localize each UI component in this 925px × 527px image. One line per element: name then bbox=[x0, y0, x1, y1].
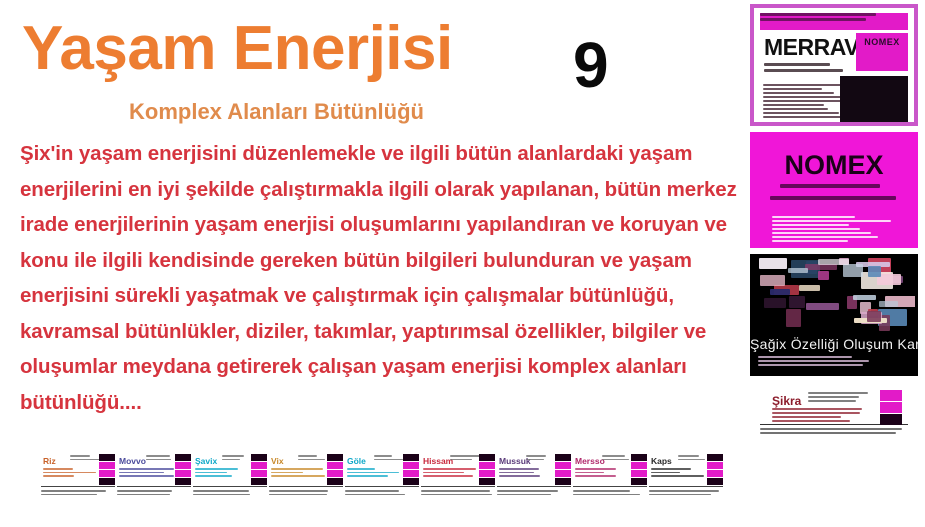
merrav-banner bbox=[760, 13, 908, 30]
collage-chip bbox=[764, 298, 786, 309]
micro-text-line bbox=[763, 104, 824, 106]
swatch bbox=[175, 478, 191, 485]
thumbnail-swatch-column bbox=[707, 454, 723, 486]
thumbnail-head-lines bbox=[222, 455, 252, 462]
page-subtitle: Komplex Alanları Bütünlüğü bbox=[129, 99, 424, 125]
thumbnail-card[interactable]: Mussuk bbox=[496, 452, 572, 504]
micro-text-line bbox=[345, 490, 399, 492]
thumbnail-divider bbox=[649, 486, 723, 487]
thumbnail-body-lines bbox=[651, 468, 707, 479]
swatch bbox=[403, 462, 419, 469]
sikra-head-lines bbox=[808, 392, 868, 404]
merrav-nomex-label: NOMEX bbox=[856, 37, 908, 47]
thumbnail-foot-lines bbox=[573, 490, 647, 497]
swatch bbox=[555, 462, 571, 469]
micro-text-line bbox=[772, 232, 871, 234]
swatch bbox=[555, 454, 571, 461]
swatch bbox=[175, 462, 191, 469]
thumbnail-swatch-column bbox=[555, 454, 571, 486]
thumbnail-strip: RizMovvoŞavixVixGöleHissamMussukMerssoKa… bbox=[40, 452, 720, 506]
nomex-title: NOMEX bbox=[750, 150, 918, 181]
micro-text-line bbox=[347, 468, 375, 470]
micro-text-line bbox=[374, 455, 392, 457]
micro-text-line bbox=[651, 472, 680, 474]
micro-text-line bbox=[526, 459, 544, 461]
micro-text-line bbox=[119, 468, 174, 470]
micro-text-line bbox=[450, 459, 472, 461]
micro-text-line bbox=[450, 455, 480, 457]
micro-text-line bbox=[649, 490, 719, 492]
thumbnail-title: Mersso bbox=[575, 456, 605, 466]
micro-text-line bbox=[193, 494, 250, 496]
swatch bbox=[99, 462, 115, 469]
micro-text-line bbox=[772, 216, 855, 218]
thumbnail-title: Vix bbox=[271, 456, 284, 466]
collage-chip bbox=[789, 296, 804, 308]
micro-text-line bbox=[763, 116, 842, 118]
thumbnail-card[interactable]: Göle bbox=[344, 452, 420, 504]
micro-text-line bbox=[271, 475, 325, 477]
thumbnail-divider bbox=[269, 486, 343, 487]
nomex-card[interactable]: NOMEX bbox=[750, 132, 918, 248]
collage-chip bbox=[818, 271, 830, 280]
thumbnail-divider bbox=[345, 486, 419, 487]
micro-text-line bbox=[575, 468, 616, 470]
collage-chip bbox=[760, 275, 785, 286]
micro-text-line bbox=[760, 432, 896, 434]
swatch bbox=[327, 470, 343, 477]
micro-text-line bbox=[117, 494, 170, 496]
thumbnail-title: Göle bbox=[347, 456, 366, 466]
micro-text-line bbox=[423, 472, 464, 474]
swatch bbox=[479, 470, 495, 477]
sikra-foot-lines bbox=[760, 428, 908, 436]
micro-text-line bbox=[808, 400, 856, 402]
micro-text-line bbox=[770, 196, 896, 200]
thumbnail-swatch-column bbox=[403, 454, 419, 486]
collage-card[interactable]: Şağix Özelliği Oluşum Kartı bbox=[750, 254, 918, 376]
merrav-photo-thumb bbox=[840, 76, 908, 124]
micro-text-line bbox=[772, 420, 850, 422]
sikra-body-lines bbox=[772, 408, 868, 424]
swatch bbox=[555, 478, 571, 485]
swatch bbox=[251, 478, 267, 485]
page-title: Yaşam Enerjisi bbox=[22, 18, 453, 80]
collage-chip bbox=[879, 301, 899, 307]
collage-chip bbox=[759, 258, 787, 269]
thumbnail-card[interactable]: Hissam bbox=[420, 452, 496, 504]
thumbnail-body-lines bbox=[499, 468, 555, 479]
swatch bbox=[403, 470, 419, 477]
thumbnail-head-lines bbox=[298, 455, 328, 462]
thumbnail-body-lines bbox=[43, 468, 99, 479]
thumbnail-title: Hissam bbox=[423, 456, 453, 466]
micro-text-line bbox=[758, 356, 852, 358]
micro-text-line bbox=[298, 459, 325, 461]
micro-text-line bbox=[70, 459, 100, 461]
micro-text-line bbox=[602, 455, 625, 457]
micro-text-line bbox=[271, 472, 303, 474]
thumbnail-swatch-column bbox=[175, 454, 191, 486]
micro-text-line bbox=[575, 472, 604, 474]
micro-text-line bbox=[651, 468, 691, 470]
micro-text-line bbox=[772, 412, 860, 414]
micro-text-line bbox=[763, 96, 842, 98]
thumbnail-head-lines bbox=[146, 455, 176, 462]
thumbnail-body-lines bbox=[119, 468, 175, 479]
thumbnail-title: Şavix bbox=[195, 456, 217, 466]
nomex-body-lines bbox=[772, 216, 900, 244]
thumbnail-body-lines bbox=[423, 468, 479, 479]
micro-text-line bbox=[421, 490, 490, 492]
thumbnail-foot-lines bbox=[193, 490, 267, 497]
swatch bbox=[631, 462, 647, 469]
merrav-nomex-inset: NOMEX bbox=[856, 33, 908, 71]
micro-text-line bbox=[347, 475, 388, 477]
thumbnail-foot-lines bbox=[421, 490, 495, 497]
slide-canvas: Yaşam Enerjisi 9 Komplex Alanları Bütünl… bbox=[0, 0, 925, 527]
micro-text-line bbox=[195, 475, 232, 477]
swatch bbox=[479, 478, 495, 485]
thumbnail-body-lines bbox=[347, 468, 403, 479]
swatch bbox=[327, 454, 343, 461]
body-paragraph: Şix'in yaşam enerjisini düzenlemekle ve … bbox=[20, 136, 750, 420]
micro-text-line bbox=[374, 459, 403, 461]
swatch bbox=[880, 402, 902, 413]
thumbnail-card[interactable]: Mersso bbox=[572, 452, 648, 504]
swatch bbox=[707, 478, 723, 485]
micro-text-line bbox=[195, 472, 227, 474]
collage-chip bbox=[805, 264, 837, 270]
micro-text-line bbox=[760, 428, 902, 430]
thumbnail-card[interactable]: Şavix bbox=[192, 452, 268, 504]
thumbnail-swatch-column bbox=[99, 454, 115, 486]
swatch bbox=[555, 470, 571, 477]
micro-text-line bbox=[497, 490, 558, 492]
micro-text-line bbox=[43, 475, 74, 477]
thumbnail-divider bbox=[573, 486, 647, 487]
micro-text-line bbox=[808, 396, 859, 398]
micro-text-line bbox=[763, 88, 822, 90]
collage-chip-area bbox=[753, 257, 915, 333]
swatch bbox=[479, 454, 495, 461]
thumbnail-divider bbox=[41, 486, 115, 487]
micro-text-line bbox=[41, 494, 97, 496]
swatch bbox=[880, 414, 902, 425]
micro-text-line bbox=[41, 490, 106, 492]
collage-chip bbox=[867, 311, 882, 322]
thumbnail-head-lines bbox=[450, 455, 480, 462]
swatch bbox=[707, 462, 723, 469]
micro-text-line bbox=[772, 224, 849, 226]
micro-text-line bbox=[678, 459, 705, 461]
micro-text-line bbox=[808, 392, 868, 394]
thumbnail-foot-lines bbox=[269, 490, 343, 497]
thumbnail-swatch-column bbox=[327, 454, 343, 486]
swatch bbox=[631, 470, 647, 477]
micro-text-line bbox=[423, 475, 473, 477]
micro-text-line bbox=[423, 468, 476, 470]
thumbnail-head-lines bbox=[70, 455, 100, 462]
collage-body-lines bbox=[758, 356, 910, 368]
collage-chip bbox=[843, 264, 863, 277]
micro-text-line bbox=[119, 475, 174, 477]
micro-text-line bbox=[772, 228, 860, 230]
sikra-card[interactable]: Şikra bbox=[750, 382, 918, 442]
thumbnail-card[interactable]: Kaps bbox=[648, 452, 724, 504]
micro-text-line bbox=[763, 112, 839, 114]
micro-text-line bbox=[222, 459, 240, 461]
swatch bbox=[327, 462, 343, 469]
thumbnail-head-lines bbox=[526, 455, 556, 462]
thumbnail-foot-lines bbox=[117, 490, 191, 497]
micro-text-line bbox=[499, 475, 540, 477]
micro-text-line bbox=[421, 494, 492, 496]
micro-text-line bbox=[760, 18, 866, 21]
micro-text-line bbox=[499, 472, 534, 474]
collage-title: Şağix Özelliği Oluşum Kartı bbox=[750, 336, 918, 352]
swatch bbox=[99, 470, 115, 477]
thumbnail-swatch-column bbox=[631, 454, 647, 486]
micro-text-line bbox=[760, 13, 876, 16]
thumbnail-divider bbox=[497, 486, 571, 487]
micro-text-line bbox=[573, 490, 630, 492]
micro-text-line bbox=[117, 490, 172, 492]
micro-text-line bbox=[499, 468, 539, 470]
thumbnail-title: Kaps bbox=[651, 456, 672, 466]
swatch bbox=[631, 478, 647, 485]
nomex-subtitle-line-2 bbox=[770, 196, 898, 202]
micro-text-line bbox=[649, 494, 711, 496]
thumbnail-foot-lines bbox=[497, 490, 571, 497]
micro-text-line bbox=[193, 490, 249, 492]
collage-chip bbox=[818, 259, 849, 265]
micro-text-line bbox=[763, 92, 834, 94]
micro-text-line bbox=[763, 108, 828, 110]
micro-text-line bbox=[43, 468, 73, 470]
swatch bbox=[251, 470, 267, 477]
thumbnail-card[interactable]: Riz bbox=[40, 452, 116, 504]
micro-text-line bbox=[345, 494, 405, 496]
thumbnail-card[interactable]: Vix bbox=[268, 452, 344, 504]
swatch bbox=[327, 478, 343, 485]
micro-text-line bbox=[70, 455, 90, 457]
thumbnail-foot-lines bbox=[345, 490, 419, 497]
merrav-card[interactable]: MERRAV NOMEX bbox=[750, 4, 918, 126]
micro-text-line bbox=[575, 475, 616, 477]
micro-text-line bbox=[222, 455, 244, 457]
swatch bbox=[880, 390, 902, 401]
thumbnail-divider bbox=[421, 486, 495, 487]
micro-text-line bbox=[764, 69, 843, 72]
thumbnail-title: Movvo bbox=[119, 456, 146, 466]
thumbnail-divider bbox=[117, 486, 191, 487]
micro-text-line bbox=[758, 364, 863, 366]
micro-text-line bbox=[763, 100, 842, 102]
collage-chip bbox=[806, 303, 839, 310]
micro-text-line bbox=[678, 455, 699, 457]
micro-text-line bbox=[146, 459, 171, 461]
thumbnail-card[interactable]: Movvo bbox=[116, 452, 192, 504]
swatch bbox=[251, 454, 267, 461]
collage-chip bbox=[770, 289, 790, 296]
thumbnail-swatch-column bbox=[479, 454, 495, 486]
thumbnail-divider bbox=[193, 486, 267, 487]
micro-text-line bbox=[195, 468, 238, 470]
thumbnail-head-lines bbox=[678, 455, 708, 462]
micro-text-line bbox=[146, 455, 170, 457]
micro-text-line bbox=[119, 472, 164, 474]
micro-text-line bbox=[651, 475, 704, 477]
nomex-subtitle-line-1 bbox=[780, 184, 888, 190]
swatch bbox=[99, 478, 115, 485]
swatch bbox=[403, 478, 419, 485]
thumbnail-foot-lines bbox=[41, 490, 115, 497]
micro-text-line bbox=[772, 236, 878, 238]
swatch bbox=[175, 454, 191, 461]
micro-text-line bbox=[43, 472, 96, 474]
micro-text-line bbox=[780, 184, 880, 188]
thumbnail-title: Riz bbox=[43, 456, 56, 466]
micro-text-line bbox=[269, 490, 328, 492]
swatch bbox=[631, 454, 647, 461]
thumbnail-body-lines bbox=[271, 468, 327, 479]
micro-text-line bbox=[269, 494, 327, 496]
swatch bbox=[175, 470, 191, 477]
collage-chip bbox=[788, 268, 808, 274]
micro-text-line bbox=[526, 455, 546, 457]
micro-text-line bbox=[772, 240, 848, 242]
micro-text-line bbox=[298, 455, 317, 457]
micro-text-line bbox=[772, 416, 841, 418]
swatch bbox=[707, 454, 723, 461]
swatch bbox=[99, 454, 115, 461]
merrav-title: MERRAV bbox=[764, 34, 859, 61]
micro-text-line bbox=[573, 494, 640, 496]
collage-chip bbox=[853, 295, 876, 300]
sikra-title: Şikra bbox=[772, 394, 801, 408]
micro-text-line bbox=[772, 408, 862, 410]
micro-text-line bbox=[271, 468, 323, 470]
thumbnail-body-lines bbox=[575, 468, 631, 479]
slide-number: 9 bbox=[573, 33, 609, 97]
micro-text-line bbox=[347, 472, 399, 474]
swatch bbox=[251, 462, 267, 469]
micro-text-line bbox=[763, 84, 844, 86]
collage-chip bbox=[786, 309, 801, 327]
sikra-swatch-column bbox=[880, 390, 902, 426]
merrav-subtitle-lines bbox=[764, 63, 854, 75]
swatch bbox=[479, 462, 495, 469]
collage-chip bbox=[868, 266, 881, 278]
micro-text-line bbox=[497, 494, 551, 496]
micro-text-line bbox=[764, 63, 830, 66]
thumbnail-head-lines bbox=[374, 455, 404, 462]
thumbnail-foot-lines bbox=[649, 490, 723, 497]
swatch bbox=[707, 470, 723, 477]
thumbnail-head-lines bbox=[602, 455, 632, 462]
micro-text-line bbox=[758, 360, 869, 362]
thumbnail-swatch-column bbox=[251, 454, 267, 486]
thumbnail-body-lines bbox=[195, 468, 251, 479]
swatch bbox=[403, 454, 419, 461]
micro-text-line bbox=[602, 459, 629, 461]
collage-chip bbox=[799, 285, 820, 291]
micro-text-line bbox=[772, 220, 891, 222]
